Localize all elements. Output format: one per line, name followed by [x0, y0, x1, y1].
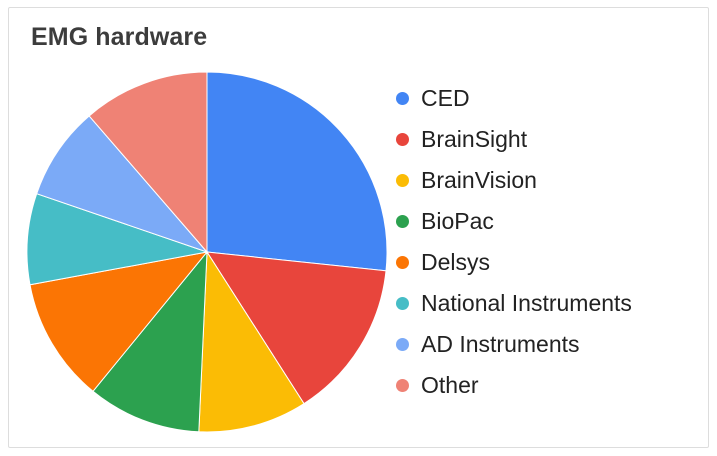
legend-color-swatch-icon	[396, 297, 409, 310]
legend-item-label: BrainSight	[421, 128, 527, 151]
legend-item[interactable]: Other	[396, 365, 701, 406]
legend-color-swatch-icon	[396, 215, 409, 228]
legend-item-label: AD Instruments	[421, 333, 580, 356]
legend-item[interactable]: AD Instruments	[396, 324, 701, 365]
legend-color-swatch-icon	[396, 338, 409, 351]
pie-chart-card: EMG hardware CED: 26.7%BrainSight: 14.3%…	[0, 0, 717, 456]
pie-slice[interactable]: CED: 26.7%	[207, 72, 387, 271]
legend-color-swatch-icon	[396, 379, 409, 392]
legend-item[interactable]: CED	[396, 78, 701, 119]
legend-item-label: Delsys	[421, 251, 490, 274]
legend-item-label: Other	[421, 374, 479, 397]
legend-color-swatch-icon	[396, 133, 409, 146]
legend-item-label: BioPac	[421, 210, 494, 233]
legend-item[interactable]: Delsys	[396, 242, 701, 283]
legend-color-swatch-icon	[396, 92, 409, 105]
legend-item-label: CED	[421, 87, 470, 110]
legend-item[interactable]: National Instruments	[396, 283, 701, 324]
chart-legend: CEDBrainSightBrainVisionBioPacDelsysNati…	[396, 78, 701, 406]
pie-svg: CED: 26.7%BrainSight: 14.3%BrainVision: …	[27, 72, 387, 432]
pie-chart-plot-area: CED: 26.7%BrainSight: 14.3%BrainVision: …	[27, 72, 387, 432]
legend-color-swatch-icon	[396, 174, 409, 187]
legend-item-label: National Instruments	[421, 292, 632, 315]
legend-item-label: BrainVision	[421, 169, 537, 192]
legend-item[interactable]: BrainVision	[396, 160, 701, 201]
legend-item[interactable]: BrainSight	[396, 119, 701, 160]
legend-color-swatch-icon	[396, 256, 409, 269]
legend-item[interactable]: BioPac	[396, 201, 701, 242]
pie-slice-group: CED: 26.7%BrainSight: 14.3%BrainVision: …	[27, 72, 387, 432]
chart-title: EMG hardware	[31, 23, 207, 52]
